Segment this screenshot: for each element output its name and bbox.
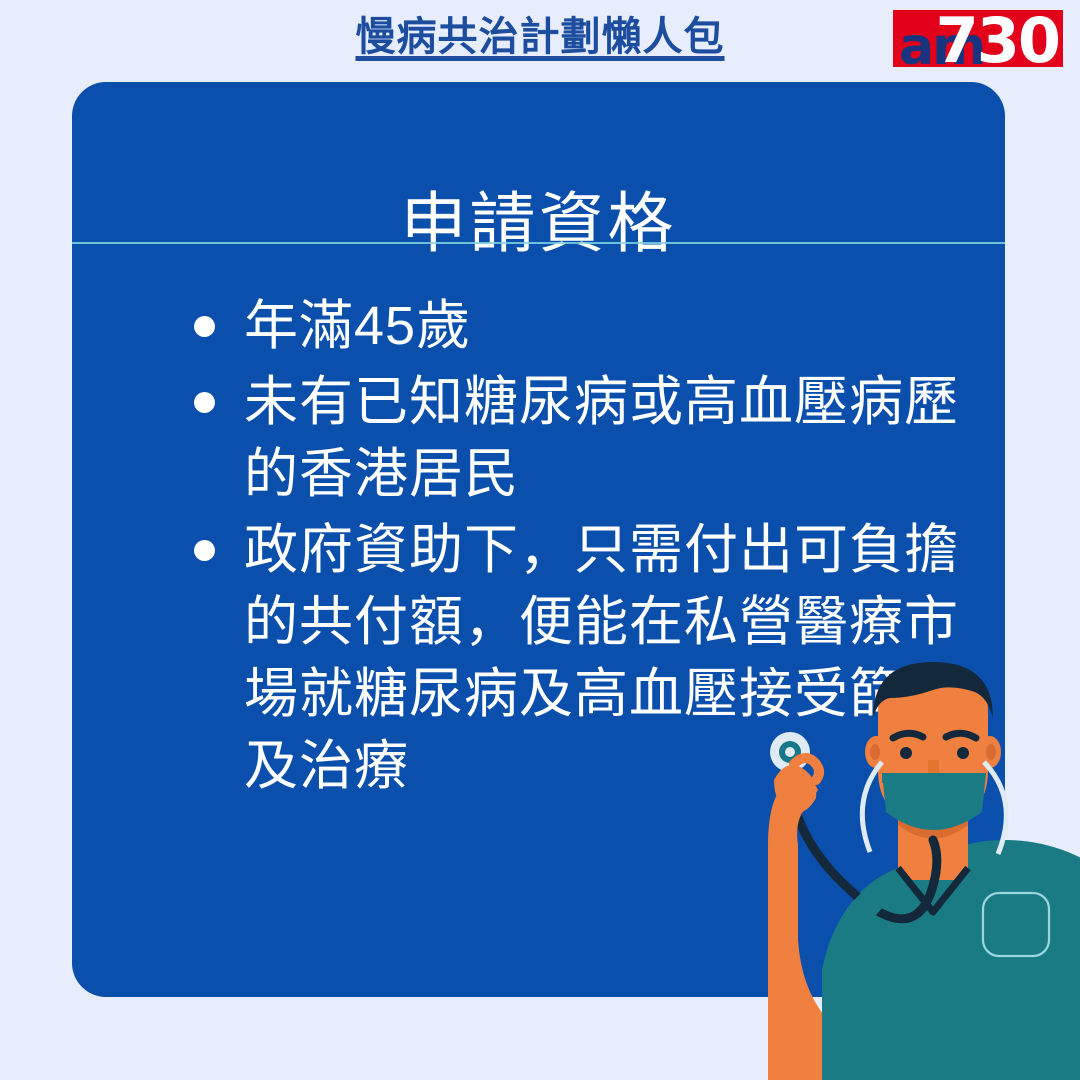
doctor-illustration [730,640,1080,1080]
bullet-dot-icon [194,392,215,413]
card-divider [72,242,1005,244]
card-heading: 申請資格 [72,190,1005,256]
list-item: 未有已知糖尿病或高血壓病歷的香港居民 [184,366,974,510]
page-header: 慢病共治計劃懶人包 am 730 [0,0,1080,80]
list-item: 年滿45歲 [184,290,974,362]
bullet-dot-icon [194,540,215,561]
list-item-label: 未有已知糖尿病或高血壓病歷的香港居民 [244,372,959,504]
logo-730-text: 730 [936,10,1059,67]
bullet-dot-icon [194,316,215,337]
am730-logo[interactable]: am 730 [893,10,1063,67]
list-item-label: 年滿45歲 [244,296,471,356]
